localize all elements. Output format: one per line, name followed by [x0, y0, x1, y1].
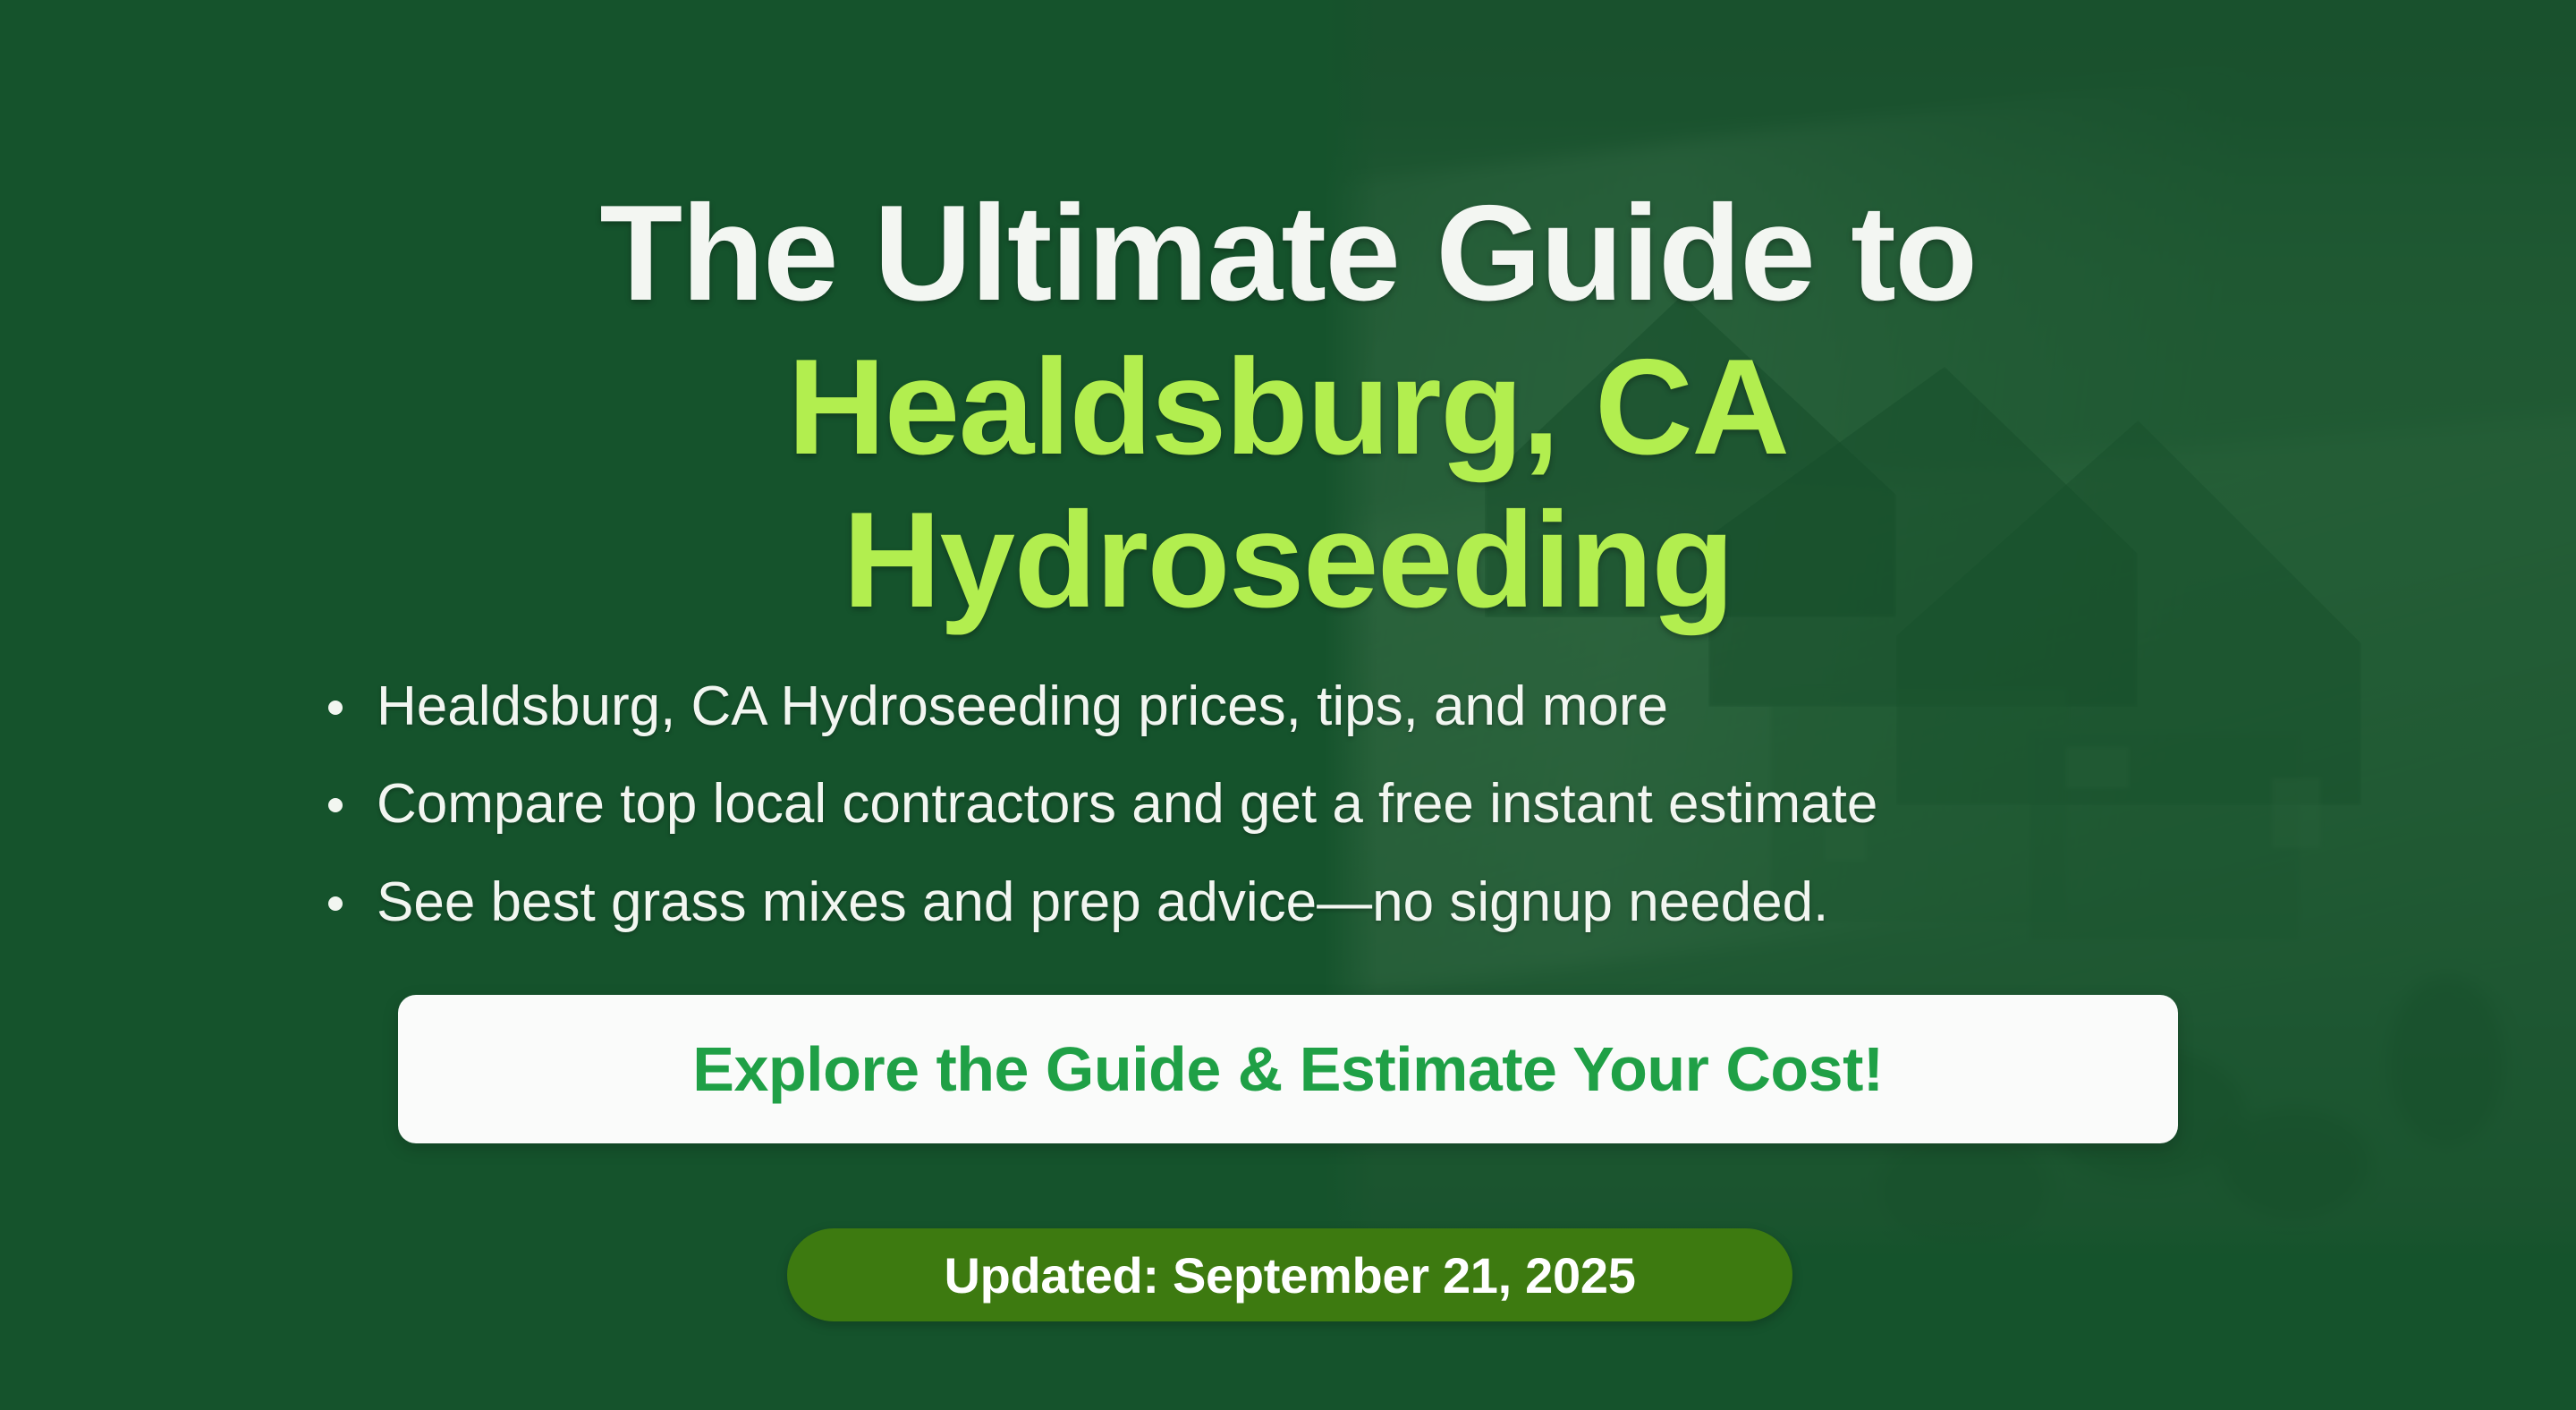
list-item: See best grass mixes and prep advice—no … — [319, 871, 2287, 933]
hero-banner: The Ultimate Guide to Healdsburg, CA Hyd… — [0, 0, 2576, 1410]
updated-date-badge: Updated: September 21, 2025 — [787, 1228, 1792, 1321]
list-item: Compare top local contractors and get a … — [319, 773, 2287, 835]
page-title: The Ultimate Guide to Healdsburg, CA Hyd… — [0, 177, 2576, 638]
updated-date-label: Updated: September 21, 2025 — [944, 1246, 1635, 1304]
benefit-list: Healdsburg, CA Hydroseeding prices, tips… — [319, 675, 2287, 933]
list-item-label: Healdsburg, CA Hydroseeding prices, tips… — [377, 675, 1668, 737]
hero-content: The Ultimate Guide to Healdsburg, CA Hyd… — [0, 0, 2576, 1410]
list-item-label: Compare top local contractors and get a … — [377, 773, 1877, 835]
headline-line-3: Hydroseeding — [188, 484, 2388, 638]
explore-guide-button[interactable]: Explore the Guide & Estimate Your Cost! — [398, 995, 2178, 1143]
list-item: Healdsburg, CA Hydroseeding prices, tips… — [319, 675, 2287, 737]
bullet-dot-icon — [328, 896, 343, 911]
bullet-dot-icon — [328, 798, 343, 812]
cta-button-label: Explore the Guide & Estimate Your Cost! — [692, 1033, 1884, 1105]
headline-line-1: The Ultimate Guide to — [599, 177, 1976, 329]
list-item-label: See best grass mixes and prep advice—no … — [377, 871, 1828, 933]
bullet-dot-icon — [328, 701, 343, 715]
headline-line-2: Healdsburg, CA — [188, 331, 2388, 485]
